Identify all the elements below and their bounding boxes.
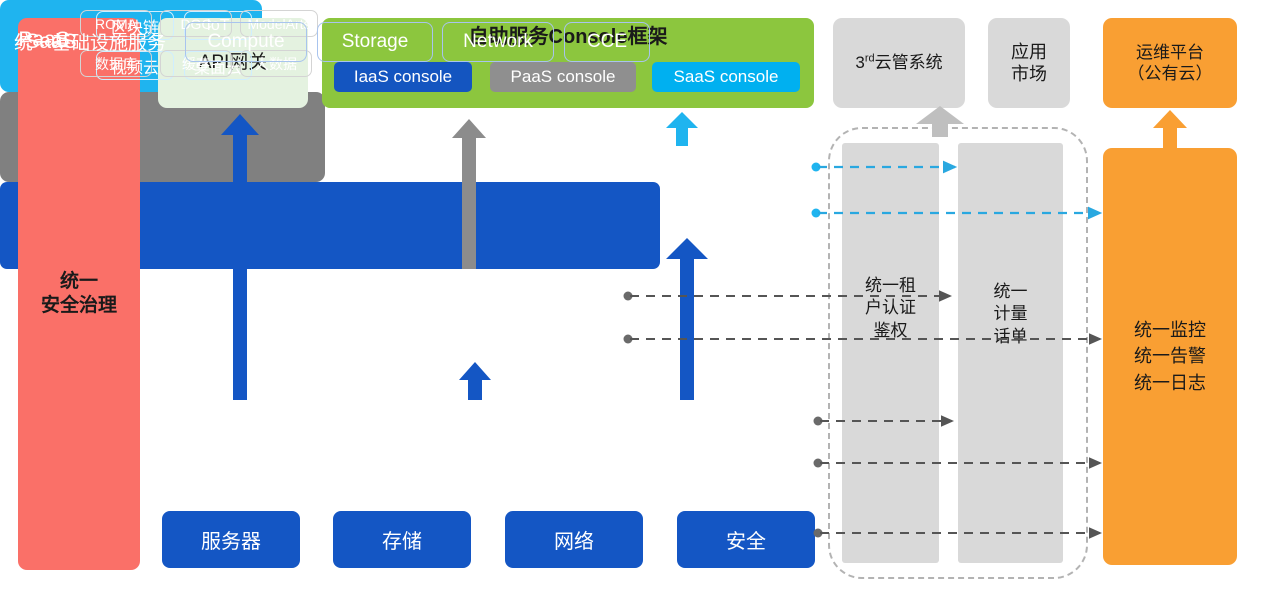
unified-infrastructure-label: 统一基础设施服务	[14, 28, 166, 55]
saas-console-chip[interactable]: SaaS console	[652, 62, 800, 92]
app-market-box: 应用 市场	[988, 18, 1070, 108]
infra-chip-cce[interactable]: CCE	[564, 22, 650, 62]
architecture-diagram: 统一 安全治理 API网关 自助服务Console框架 IaaS console…	[0, 0, 1265, 605]
ops-platform-public-cloud-box: 运维平台 （公有云）	[1103, 18, 1237, 108]
infra-chip-compute[interactable]: Compute	[185, 22, 307, 62]
arrow-infra-to-paas	[459, 362, 491, 400]
unified-metering-label: 统一 计量 话单	[958, 281, 1063, 348]
arrow-saas-to-saas-console	[666, 112, 698, 146]
resource-box-storage[interactable]: 存储	[333, 511, 471, 568]
resource-box-network[interactable]: 网络	[505, 511, 643, 568]
iaas-console-chip[interactable]: IaaS console	[334, 62, 472, 92]
infra-chip-network[interactable]: Network	[442, 22, 554, 62]
paas-console-chip[interactable]: PaaS console	[490, 62, 636, 92]
arrow-ops-panel-to-ops-top	[1153, 110, 1187, 148]
unified-security-governance-panel: 统一 安全治理	[18, 18, 140, 570]
unified-tenant-auth-label: 统一租 户认证 鉴权	[842, 275, 939, 342]
infra-chip-storage[interactable]: Storage	[317, 22, 433, 62]
unified-tenant-auth-column	[842, 143, 939, 563]
arrow-infra-to-saas	[666, 238, 708, 400]
unified-monitoring-panel: 统一监控 统一告警 统一日志	[1103, 148, 1237, 565]
third-party-cloud-mgmt-label: 3rd云管系统	[855, 52, 942, 73]
unified-metering-column	[958, 143, 1063, 563]
third-party-cloud-mgmt-box: 3rd云管系统	[833, 18, 965, 108]
resource-box-security[interactable]: 安全	[677, 511, 815, 568]
resource-box-server[interactable]: 服务器	[162, 511, 300, 568]
